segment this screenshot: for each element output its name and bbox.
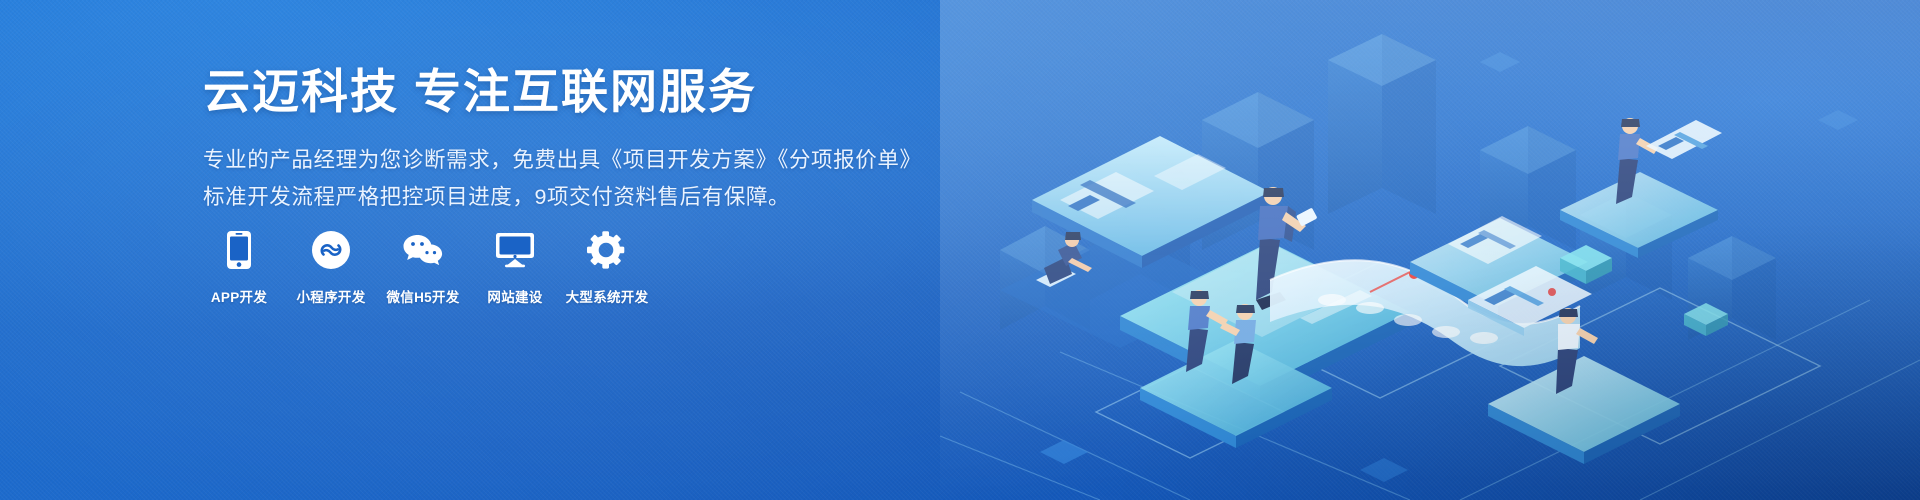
subtitle-line-1: 专业的产品经理为您诊断需求，免费出具《项目开发方案》《分项报价单》: [203, 142, 963, 179]
service-item-website[interactable]: 网站建设: [479, 230, 551, 306]
service-label: 网站建设: [487, 286, 542, 306]
service-item-miniprogram[interactable]: 小程序开发: [295, 230, 367, 306]
service-label: 大型系统开发: [566, 286, 649, 306]
wechat-chat-bubbles-icon: [401, 230, 445, 270]
mobile-phone-icon: [226, 230, 252, 270]
page-title: 云迈科技 专注互联网服务: [203, 68, 963, 116]
subtitle-line-2: 标准开发流程严格把控项目进度，9项交付资料售后有保障。: [203, 179, 963, 216]
gear-icon: [587, 230, 627, 270]
wechat-miniprogram-icon: [311, 230, 351, 270]
subtitle-block: 专业的产品经理为您诊断需求，免费出具《项目开发方案》《分项报价单》 标准开发流程…: [203, 142, 963, 216]
isometric-business-analytics-illustration: [940, 0, 1920, 500]
service-item-app[interactable]: APP开发: [203, 230, 275, 306]
hero-copy: 云迈科技 专注互联网服务 专业的产品经理为您诊断需求，免费出具《项目开发方案》《…: [203, 68, 963, 216]
service-label: 微信H5开发: [386, 286, 459, 306]
service-list: APP开发 小程序开发: [203, 230, 643, 306]
desktop-monitor-icon: [494, 230, 536, 270]
service-label: 小程序开发: [297, 286, 366, 306]
promo-banner: 云迈科技 专注互联网服务 专业的产品经理为您诊断需求，免费出具《项目开发方案》《…: [0, 0, 1920, 500]
service-label: APP开发: [211, 286, 267, 306]
service-item-large-system[interactable]: 大型系统开发: [571, 230, 643, 306]
service-item-wechat-h5[interactable]: 微信H5开发: [387, 230, 459, 306]
